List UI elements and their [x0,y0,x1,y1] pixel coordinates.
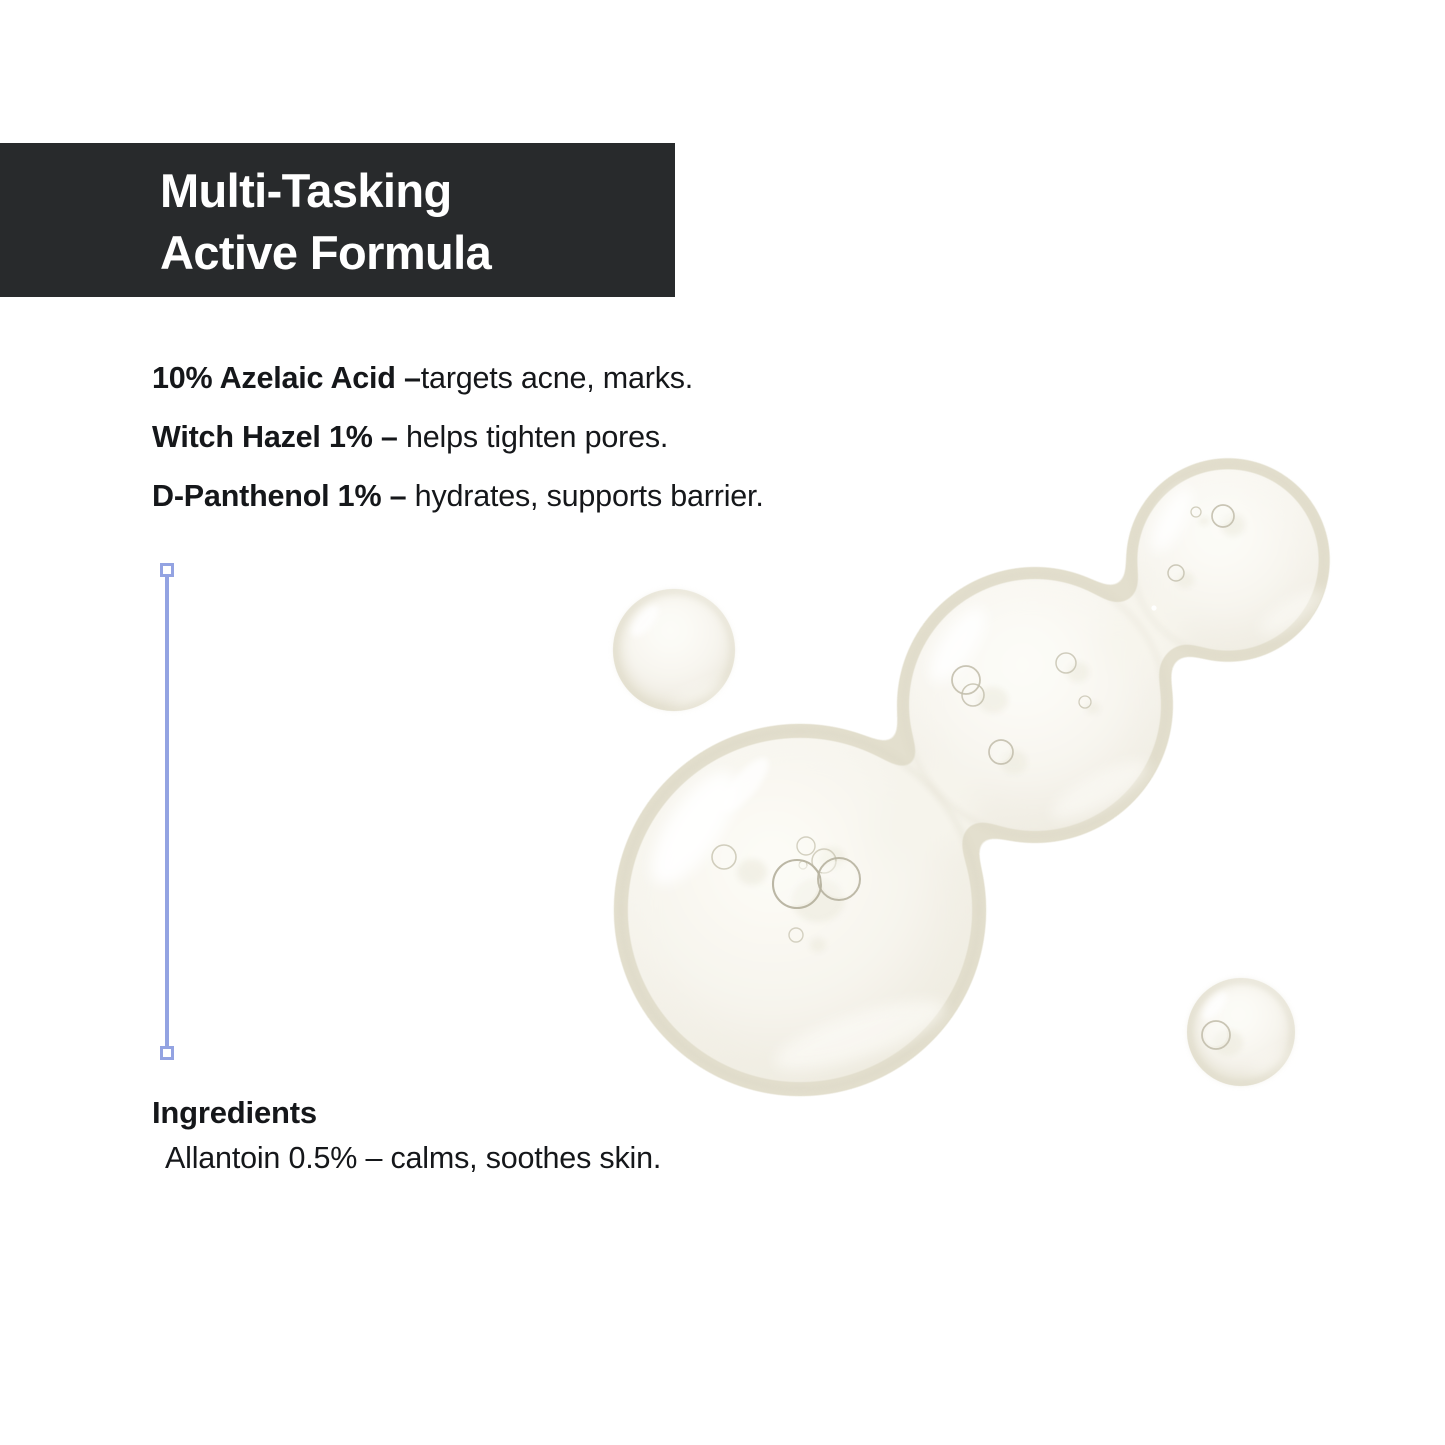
gel-highlights [636,482,1331,1084]
benefit-line: 10% Azelaic Acid –targets acne, marks. [152,363,693,394]
ingredients-item: Allantoin 0.5% – calms, soothes skin. [165,1143,661,1174]
benefit-name: D-Panthenol 1% – [152,479,406,513]
product-infographic-canvas: Multi-Tasking Active Formula 10% Azelaic… [0,0,1445,1445]
vertical-measure-guide[interactable] [160,563,174,1060]
gel-bubbles-large [712,837,860,952]
measure-guide-line [165,569,169,1054]
header-banner: Multi-Tasking Active Formula [0,143,675,297]
page-title: Multi-Tasking Active Formula [160,160,660,284]
gel-droplet-right-detail [1190,981,1297,1083]
gel-bubbles-top [1151,505,1245,611]
gel-mass-body [628,469,1319,1082]
gel-bubbles-middle [952,653,1100,774]
measure-handle-bottom-icon[interactable] [160,1046,174,1060]
gel-edge-shading [621,464,1324,1089]
benefit-line: Witch Hazel 1% – helps tighten pores. [152,422,668,453]
benefit-description: helps tighten pores. [398,420,668,454]
benefit-description: targets acne, marks. [421,361,693,395]
benefit-name: Witch Hazel 1% – [152,420,398,454]
gel-droplet-left [613,589,735,711]
gel-droplet-right [1187,978,1295,1086]
ingredients-heading: Ingredients [152,1097,317,1128]
gel-mass-rim [614,458,1330,1096]
gel-droplet-left-detail [616,592,732,713]
benefit-name: 10% Azelaic Acid – [152,361,421,395]
measure-handle-top-icon[interactable] [160,563,174,577]
benefit-description: hydrates, supports barrier. [406,479,763,513]
benefit-line: D-Panthenol 1% – hydrates, supports barr… [152,481,764,512]
